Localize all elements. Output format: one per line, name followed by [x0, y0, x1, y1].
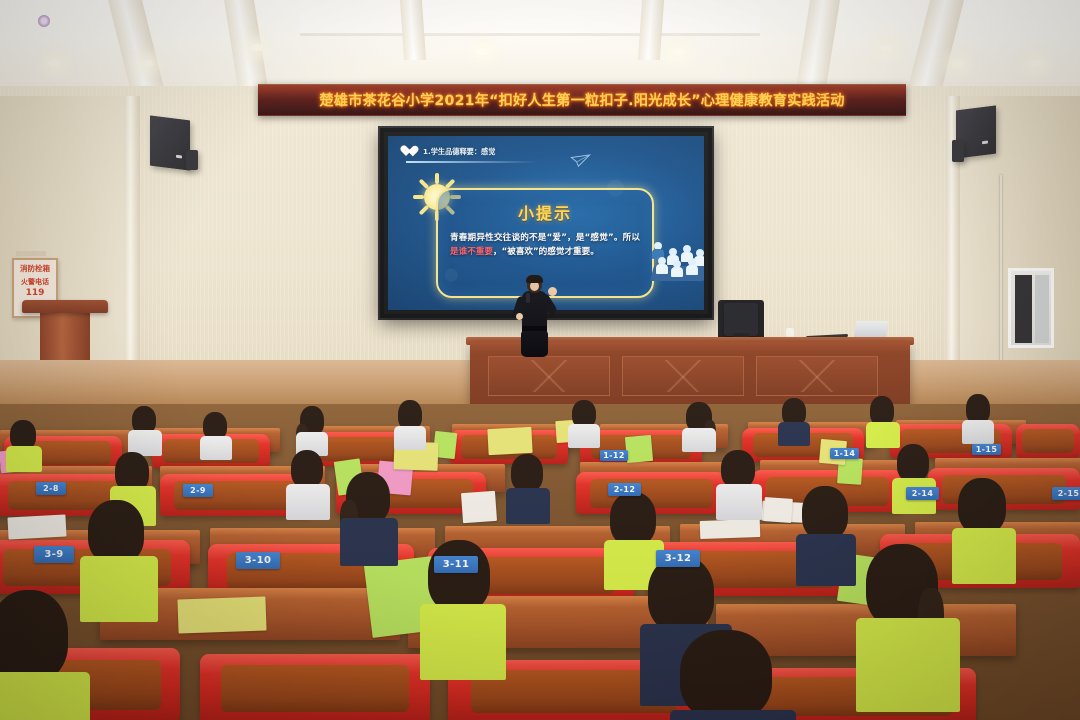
ceiling-downlight [880, 44, 893, 51]
event-banner: 楚雄市茶花谷小学2021年“扣好人生第一粒扣子.阳光成长”心理健康教育实践活动 [258, 84, 906, 116]
paper-plane-icon [570, 154, 592, 168]
seat-tag: 1-15 [972, 444, 1001, 455]
card-green [625, 435, 653, 463]
slide-header-underline [406, 161, 538, 163]
seat-tag: 1-14 [830, 448, 859, 459]
ceiling-downlight [48, 60, 61, 67]
ceiling-downlight [1030, 60, 1043, 67]
microphone-icon [526, 293, 530, 303]
tip-line-1: 青春期异性交往谈的不是“爱”，是“感 [450, 233, 599, 243]
seat-tag: 3-12 [656, 550, 700, 567]
fire-sign-line2: 火警电话 [21, 277, 49, 287]
sign-cap [16, 251, 46, 256]
seat[interactable] [200, 654, 430, 720]
window-pane-left [1015, 275, 1032, 343]
ceiling-downlight [250, 44, 263, 51]
ceiling-downlight [140, 60, 153, 67]
seat-tag: 2-8 [36, 482, 66, 495]
hanging-cable [1000, 175, 1002, 365]
classroom-photo: 消防栓箱 火警电话 119 2号 楚雄市茶花谷小学2021年“扣好人生第一粒扣子… [0, 0, 1080, 720]
seat-tag: 2-14 [906, 487, 939, 500]
seat[interactable] [1016, 424, 1080, 458]
wall-speaker-icon [150, 116, 190, 171]
tip-line-2: 觉”。所以 [599, 233, 640, 243]
card-yellow [487, 427, 532, 455]
presenter-speaker [513, 276, 559, 358]
heart-icon [406, 146, 418, 157]
ceiling-downlight [672, 48, 685, 55]
window-pane-right [1035, 275, 1049, 343]
tip-line-4: 才重要。 [564, 247, 598, 257]
ceiling [0, 0, 1080, 96]
slide-header: 1.学生品德释要：感觉 [406, 146, 495, 157]
paper-sheet [700, 519, 761, 539]
fire-sign-line3: 119 [26, 287, 45, 300]
podium-emblem [38, 15, 50, 27]
slide-tip-body: 青春期异性交往谈的不是“爱”，是“感觉”。所以是谁不重要，“被喜欢”的感觉才重要… [450, 231, 640, 259]
seat-tag: 3-9 [34, 546, 74, 563]
seat-tag: 1-12 [600, 450, 628, 461]
monitor-icon [724, 303, 758, 336]
paper-sheet [177, 596, 266, 633]
card-held [763, 497, 793, 523]
fire-sign-line1: 消防栓箱 [20, 264, 50, 275]
tip-line-3: ，“被喜欢”的感觉 [493, 247, 564, 257]
seat-tag: 2-12 [608, 483, 641, 496]
seat-tag: 3-11 [434, 556, 478, 573]
tip-highlight: 是谁不重要 [450, 247, 493, 257]
speaker-bracket [952, 140, 964, 162]
card-held [461, 491, 497, 523]
slide-header-label: 1.学生品德释要：感觉 [423, 147, 495, 157]
slide-tip-title: 小提示 [450, 200, 640, 224]
paper-sheet [7, 514, 66, 539]
seat-tag: 3-10 [236, 552, 280, 569]
students-illustration-icon [650, 236, 704, 284]
ceiling-downlight [476, 48, 489, 55]
seat-tag: 2-15 [1052, 487, 1080, 500]
seat-tag: 2-9 [183, 484, 213, 497]
window-icon [1008, 268, 1054, 348]
ceiling-downlight [952, 60, 965, 67]
speaker-bracket [186, 150, 198, 170]
